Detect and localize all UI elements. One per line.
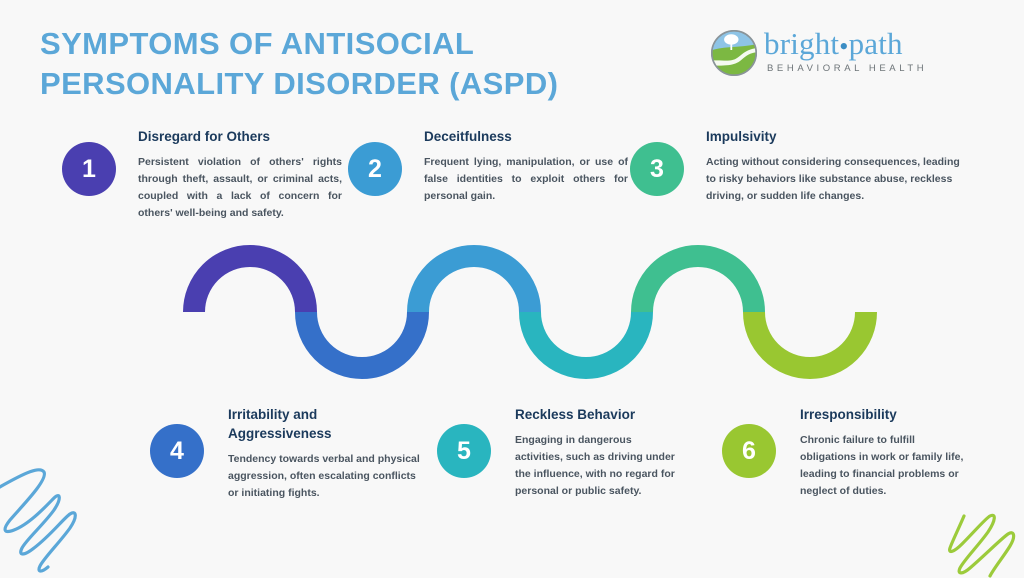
green-scribble-decoration <box>928 494 1024 578</box>
symptom-body-1: Persistent violation of others' rights t… <box>138 154 342 222</box>
wave-arc-1-upper <box>194 256 306 312</box>
symptom-heading-1: Disregard for Others <box>138 128 342 147</box>
logo-wordmark: bright•path <box>764 28 927 61</box>
symptom-item-3: 3 Impulsivity Acting without considering… <box>630 128 960 205</box>
wave-arc-5-upper <box>642 256 754 312</box>
symptom-heading-2: Deceitfulness <box>424 128 628 147</box>
symptom-body-3: Acting without considering consequences,… <box>706 154 960 205</box>
logo-tagline: BEHAVIORAL HEALTH <box>767 63 927 74</box>
symptom-body-2: Frequent lying, manipulation, or use of … <box>424 154 628 205</box>
symptom-item-4: 4 Irritability and Aggressiveness Tenden… <box>150 406 420 502</box>
symptom-badge-4: 4 <box>150 424 204 478</box>
symptom-body-4: Tendency towards verbal and physical agg… <box>228 451 420 502</box>
wave-arcs-graphic <box>150 240 900 390</box>
symptom-heading-4: Irritability and Aggressiveness <box>228 406 420 444</box>
symptom-body-5: Engaging in dangerous activities, such a… <box>515 432 682 500</box>
logo-brand-second: path <box>849 26 903 61</box>
symptom-item-2: 2 Deceitfulness Frequent lying, manipula… <box>348 128 628 205</box>
symptom-item-6: 6 Irresponsibility Chronic failure to fu… <box>722 406 970 500</box>
symptom-badge-2: 2 <box>348 142 402 196</box>
logo-brand-separator: • <box>839 32 848 61</box>
page-title: Symptoms of Antisocial Personality Disor… <box>40 24 600 103</box>
symptom-badge-6: 6 <box>722 424 776 478</box>
symptom-badge-3: 3 <box>630 142 684 196</box>
symptom-heading-3: Impulsivity <box>706 128 960 147</box>
wave-arc-6-lower <box>754 312 866 368</box>
symptom-item-1: 1 Disregard for Others Persistent violat… <box>62 128 342 222</box>
tree-path-circle-logo-icon <box>710 29 758 77</box>
logo-brand-first: bright <box>764 26 839 61</box>
symptom-body-6: Chronic failure to fulfill obligations i… <box>800 432 970 500</box>
symptom-badge-5: 5 <box>437 424 491 478</box>
symptom-heading-5: Reckless Behavior <box>515 406 682 425</box>
symptom-item-5: 5 Reckless Behavior Engaging in dangerou… <box>437 406 682 500</box>
wave-arc-3-upper <box>418 256 530 312</box>
symptom-badge-1: 1 <box>62 142 116 196</box>
brand-logo: bright•path BEHAVIORAL HEALTH <box>710 27 942 82</box>
wave-arc-2-lower <box>306 312 418 368</box>
wave-arc-4-lower <box>530 312 642 368</box>
symptom-heading-6: Irresponsibility <box>800 406 970 425</box>
blue-scribble-decoration <box>0 428 106 576</box>
